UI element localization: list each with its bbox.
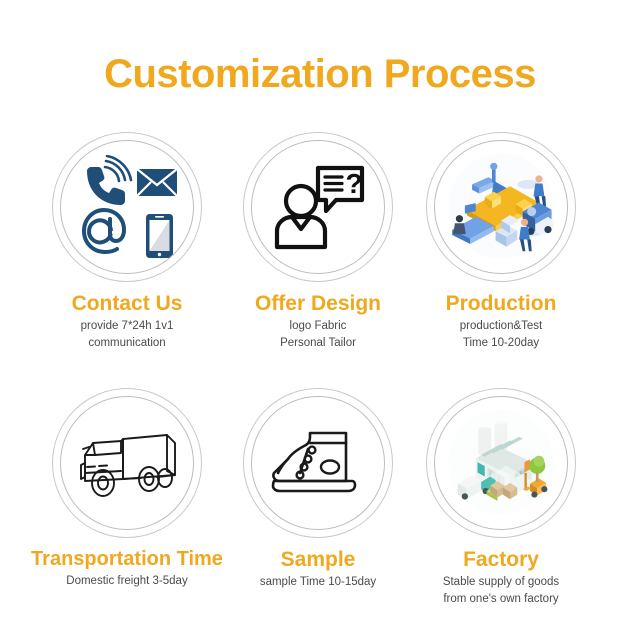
box-truck-icon [71,407,183,519]
process-step-sample[interactable]: Sample sample Time 10-15day [213,388,423,591]
process-steps-grid: Contact Us provide 7*24h 1v1 communicati… [0,132,640,632]
step-circle-frame [243,388,393,538]
step-title: Production [396,292,606,315]
envelope-icon [137,169,177,196]
step-title: Sample [213,548,423,571]
step-title: Offer Design [213,292,423,315]
infographic-page: Customization Process [0,0,640,640]
factory-warehouse-isometric-icon [445,407,557,519]
process-step-production[interactable]: Production production&Test Time 10-20day [396,132,606,351]
person-with-question-speech-bubble-icon: ? [262,151,374,263]
step-circle-inner [434,396,568,530]
step-circle-frame [52,132,202,282]
step-subtitle: Stable supply of goods from one's own fa… [396,574,606,607]
at-sign-icon [84,210,124,252]
process-step-contact-us[interactable]: Contact Us provide 7*24h 1v1 communicati… [22,132,232,351]
phone-ringing-icon [87,156,131,205]
step-title: Contact Us [22,292,232,315]
factory-assembly-line-isometric-icon [445,151,557,263]
step-circle-inner [60,140,194,274]
step-circle-frame [426,132,576,282]
svg-text:?: ? [345,168,362,199]
boot-shoe-icon [262,407,374,519]
step-circle-frame [426,388,576,538]
step-circle-inner [434,140,568,274]
step-circle-frame [52,388,202,538]
process-step-factory[interactable]: Factory Stable supply of goods from one'… [396,388,606,607]
contact-icons-group [71,151,183,263]
step-subtitle: Domestic freight 3-5day [22,573,232,590]
process-step-transportation-time[interactable]: Transportation Time Domestic freight 3-5… [22,388,232,590]
step-circle-frame: ? [243,132,393,282]
step-circle-inner [60,396,194,530]
mobile-phone-icon [146,214,173,258]
step-subtitle: provide 7*24h 1v1 communication [22,318,232,351]
step-circle-inner [251,396,385,530]
step-title: Transportation Time [22,548,232,570]
page-title: Customization Process [0,54,640,94]
step-subtitle: production&Test Time 10-20day [396,318,606,351]
step-title: Factory [396,548,606,571]
process-step-offer-design[interactable]: ? Offer Design logo Fabric Personal Tail… [213,132,423,351]
step-subtitle: sample Time 10-15day [213,574,423,591]
step-subtitle: logo Fabric Personal Tailor [213,318,423,351]
step-circle-inner: ? [251,140,385,274]
